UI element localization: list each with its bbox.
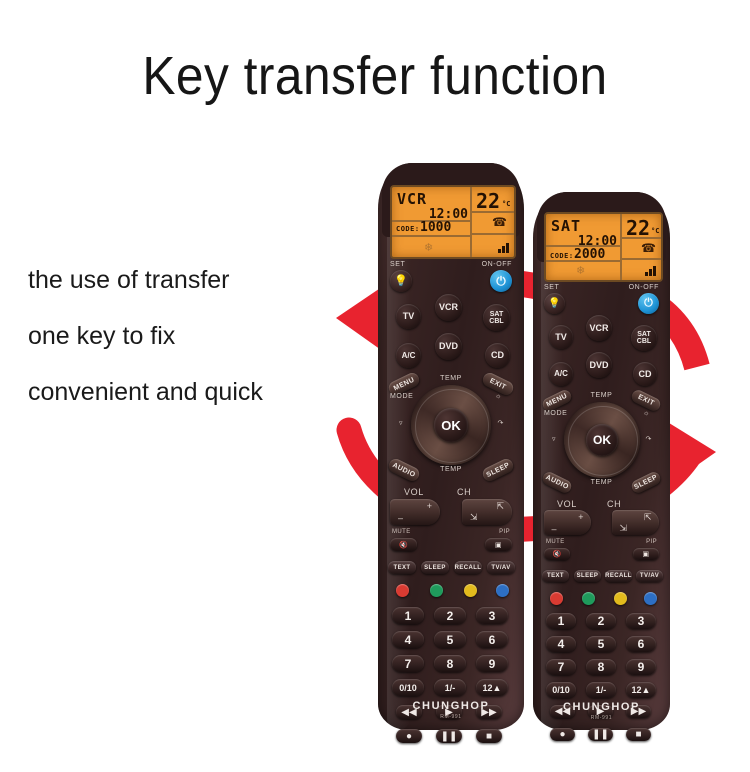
navigation-ring[interactable]: OK (564, 402, 640, 478)
lcd-temperature: 22 (626, 216, 650, 240)
device-button-tv[interactable]: TV (549, 325, 573, 349)
num-key-5[interactable]: 5 (586, 636, 616, 652)
ch-label: CH (607, 499, 621, 509)
color-key-yellow[interactable] (464, 584, 477, 597)
num-key-2[interactable]: 2 (434, 607, 466, 624)
lcd-code-label: CODE: (396, 225, 420, 233)
set-label: SET (390, 261, 405, 268)
color-key-green[interactable] (582, 592, 595, 605)
function-button-text[interactable]: TEXT (388, 561, 416, 574)
volume-rocker[interactable]: +– (544, 510, 591, 535)
num-key-6[interactable]: 6 (626, 636, 656, 652)
lcd-code: 2000 (574, 247, 605, 262)
media-rewind-button[interactable]: ◀◀ (396, 705, 422, 719)
media-fastforward-button[interactable]: ▶▶ (476, 705, 502, 719)
device-button-dvd[interactable]: DVD (435, 333, 462, 360)
device-button-vcr[interactable]: VCR (586, 315, 612, 341)
function-button-recall[interactable]: RECALL (605, 570, 632, 582)
color-key-red[interactable] (550, 592, 563, 605)
light-bulb-button[interactable]: 💡 (390, 270, 412, 292)
num-key-8[interactable]: 8 (586, 659, 616, 675)
device-button-tv[interactable]: TV (396, 304, 421, 329)
function-button-text[interactable]: TEXT (542, 570, 569, 582)
lcd-snowflake-icon: ❄ (576, 264, 585, 277)
num-key-12-up[interactable]: 12▲ (476, 679, 508, 696)
right-remote-lcd: SAT 12:00 CODE: 2000 22 °C ☎ ❄ (544, 212, 663, 282)
color-key-green[interactable] (430, 584, 443, 597)
lcd-phone-icon: ☎ (492, 215, 507, 229)
light-bulb-button[interactable]: 💡 (544, 293, 565, 314)
ok-button[interactable]: OK (586, 424, 618, 456)
num-key-7[interactable]: 7 (546, 659, 576, 675)
lcd-temperature: 22 (476, 189, 500, 213)
lcd-code-label: CODE: (550, 252, 574, 260)
on-off-label: ON-OFF (629, 284, 659, 291)
num-key-4[interactable]: 4 (392, 631, 424, 648)
num-key-7[interactable]: 7 (392, 655, 424, 672)
device-button-cd[interactable]: CD (633, 362, 657, 386)
num-key-8[interactable]: 8 (434, 655, 466, 672)
temp-down-label: TEMP (591, 479, 613, 486)
temp-up-label: TEMP (440, 375, 462, 382)
media-record-button[interactable]: ● (396, 729, 422, 743)
swing-icon: ↷ (646, 435, 652, 443)
channel-rocker[interactable]: ⇱⇲ (612, 510, 659, 535)
pip-label: PIP (646, 539, 657, 545)
ok-button[interactable]: OK (434, 408, 468, 442)
num-key-6[interactable]: 6 (476, 631, 508, 648)
num-key-5[interactable]: 5 (434, 631, 466, 648)
lcd-signal-bars (645, 266, 656, 276)
media-stop-button[interactable]: ■ (476, 729, 502, 743)
channel-rocker[interactable]: ⇱⇲ (462, 499, 512, 525)
num-key-4[interactable]: 4 (546, 636, 576, 652)
num-key-1-dash[interactable]: 1/- (586, 682, 616, 698)
vol-label: VOL (404, 487, 424, 497)
lcd-temperature-unit: °C (651, 227, 659, 235)
lcd-code: 1000 (420, 220, 451, 235)
power-button[interactable]: ⏻ (638, 293, 659, 314)
num-key-3[interactable]: 3 (476, 607, 508, 624)
fan-icon: ▿ (552, 435, 556, 443)
num-key-12-up[interactable]: 12▲ (626, 682, 656, 698)
mute-label: MUTE (546, 539, 565, 545)
left-remote-lcd: VCR 12:00 CODE: 1000 22 °C ☎ ❄ (390, 185, 516, 259)
function-button-tv-av[interactable]: TV/AV (487, 561, 515, 574)
pip-button[interactable]: ▣ (485, 538, 512, 551)
swing-icon: ↷ (498, 419, 504, 427)
media-play-button[interactable]: ▶ (588, 705, 613, 718)
product-image-stage: Key transfer function the use of transfe… (0, 0, 750, 750)
num-key-3[interactable]: 3 (626, 613, 656, 629)
power-button[interactable]: ⏻ (490, 270, 512, 292)
lcd-mode: SAT (551, 217, 581, 235)
device-button-sat-cbl[interactable]: SATCBL (483, 304, 510, 331)
fan-icon: ▿ (399, 419, 403, 427)
set-label: SET (544, 284, 559, 291)
media-play-button[interactable]: ▶ (436, 705, 462, 719)
num-key-9[interactable]: 9 (476, 655, 508, 672)
temp-down-label: TEMP (440, 466, 462, 473)
color-key-red[interactable] (396, 584, 409, 597)
left-remote[interactable]: VCR 12:00 CODE: 1000 22 °C ☎ ❄ SET ON-OF… (378, 163, 524, 730)
device-button-cd[interactable]: CD (485, 343, 510, 368)
volume-rocker[interactable]: +– (390, 499, 440, 525)
lcd-snowflake-icon: ❄ (424, 241, 433, 254)
num-key-2[interactable]: 2 (586, 613, 616, 629)
mute-label: MUTE (392, 529, 411, 535)
lcd-phone-icon: ☎ (641, 241, 656, 255)
mute-button[interactable]: 🔇 (544, 548, 570, 560)
device-button-ac[interactable]: A/C (396, 343, 421, 368)
device-button-vcr[interactable]: VCR (435, 294, 462, 321)
media-fastforward-button[interactable]: ▶▶ (626, 705, 651, 718)
lcd-mode: VCR (397, 190, 427, 208)
device-button-sat-cbl[interactable]: SATCBL (631, 325, 657, 351)
num-key-1[interactable]: 1 (546, 613, 576, 629)
media-rewind-button[interactable]: ◀◀ (550, 705, 575, 718)
lcd-signal-bars (498, 243, 509, 253)
mode-label: MODE (390, 393, 413, 400)
pip-button[interactable]: ▣ (633, 548, 659, 560)
brightness-icon: ☼ (495, 393, 502, 400)
function-button-sleep[interactable]: SLEEP (574, 570, 601, 582)
right-remote[interactable]: SAT 12:00 CODE: 2000 22 °C ☎ ❄ SET ON-OF… (533, 192, 670, 730)
function-button-recall[interactable]: RECALL (454, 561, 482, 574)
device-button-ac[interactable]: A/C (549, 362, 573, 386)
device-button-dvd[interactable]: DVD (586, 352, 612, 378)
ch-label: CH (457, 487, 471, 497)
color-key-blue[interactable] (496, 584, 509, 597)
function-button-sleep[interactable]: SLEEP (421, 561, 449, 574)
media-pause-button[interactable]: ❚❚ (436, 729, 462, 743)
mute-button[interactable]: 🔇 (390, 538, 417, 551)
num-key-1-dash[interactable]: 1/- (434, 679, 466, 696)
num-key-0-10[interactable]: 0/10 (546, 682, 576, 698)
function-button-tv-av[interactable]: TV/AV (636, 570, 663, 582)
color-key-blue[interactable] (644, 592, 657, 605)
vol-label: VOL (557, 499, 577, 509)
temp-up-label: TEMP (591, 392, 613, 399)
color-key-yellow[interactable] (614, 592, 627, 605)
navigation-ring[interactable]: OK (411, 385, 491, 465)
pip-label: PIP (499, 529, 510, 535)
num-key-0-10[interactable]: 0/10 (392, 679, 424, 696)
num-key-1[interactable]: 1 (392, 607, 424, 624)
mode-label: MODE (544, 410, 567, 417)
num-key-9[interactable]: 9 (626, 659, 656, 675)
on-off-label: ON-OFF (482, 261, 512, 268)
brightness-icon: ☼ (643, 410, 650, 417)
lcd-temperature-unit: °C (502, 200, 510, 208)
